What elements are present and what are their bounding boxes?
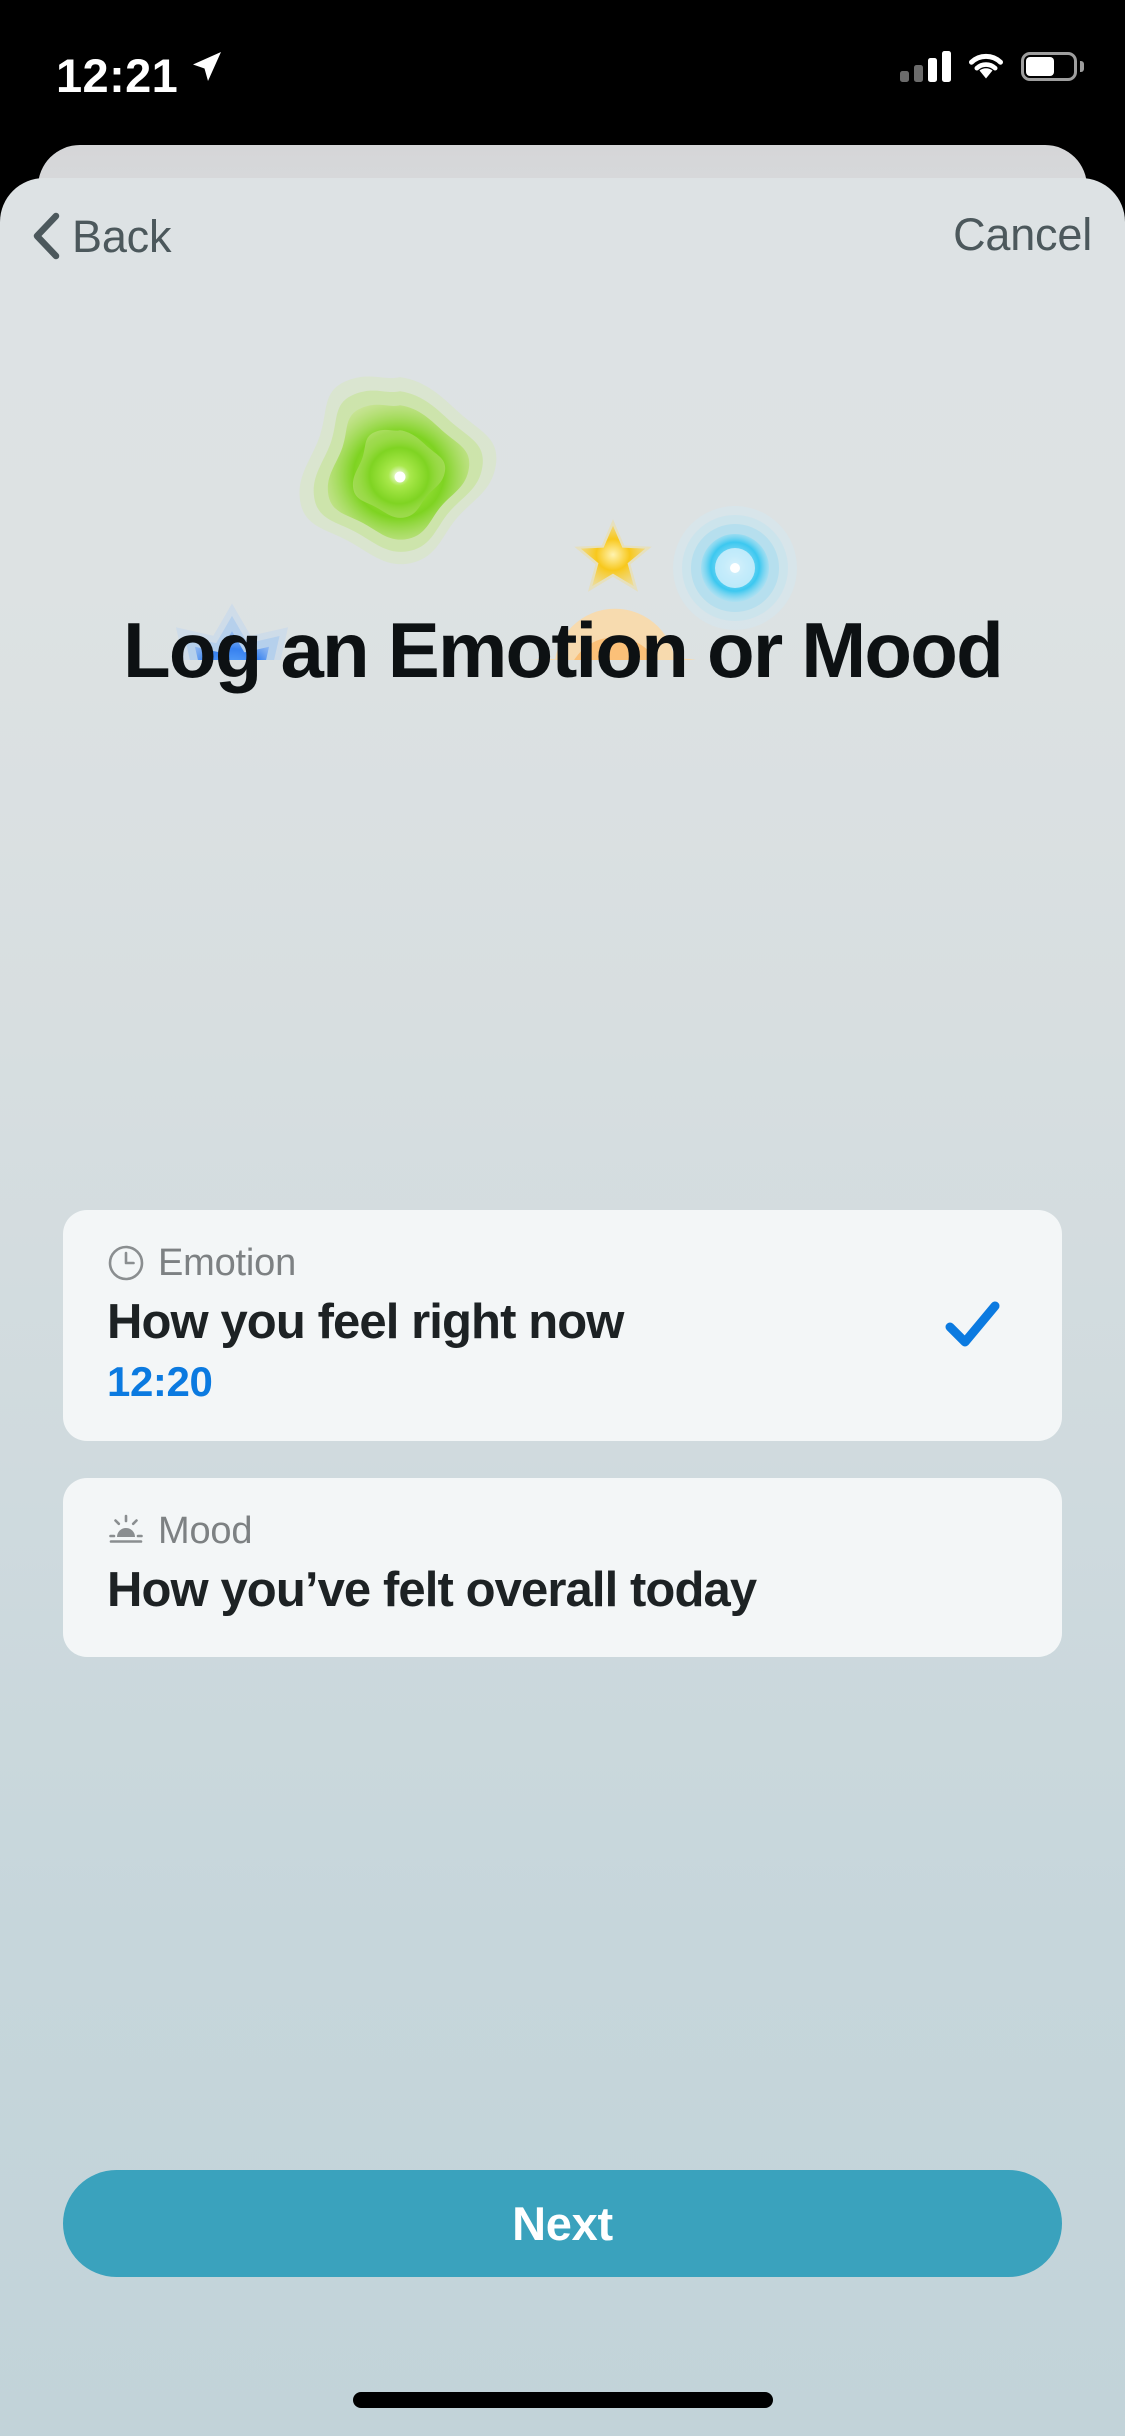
option-list: Emotion How you feel right now 12:20 [63,1210,1062,1694]
back-button-label: Back [72,214,171,259]
back-button[interactable]: Back [30,212,171,260]
page-title: Log an Emotion or Mood [0,610,1125,691]
option-card-mood[interactable]: Mood How you’ve felt overall today [63,1478,1062,1657]
modal-sheet: Back Cancel [0,178,1125,2436]
battery-icon [1021,52,1077,81]
checkmark-icon [940,1293,1004,1357]
emotion-flowers-illustration [0,270,1125,660]
status-bar: 12:21 [0,0,1125,148]
location-arrow-icon [189,49,223,83]
option-time: 12:20 [107,1361,1018,1403]
wifi-icon [967,51,1005,81]
next-button[interactable]: Next [63,2170,1062,2277]
home-indicator[interactable] [353,2392,773,2408]
option-meta-mood: Mood [107,1512,1018,1550]
option-meta-emotion: Emotion [107,1244,1018,1282]
phone-screen: 12:21 Back Cancel [0,0,1125,2436]
next-button-label: Next [512,2196,613,2251]
status-bar-time: 12:21 [56,52,178,99]
status-bar-indicators [900,50,1077,82]
option-title: How you’ve felt overall today [107,1562,807,1619]
option-card-emotion[interactable]: Emotion How you feel right now 12:20 [63,1210,1062,1441]
option-meta-label: Mood [158,1512,252,1550]
cancel-button[interactable]: Cancel [953,212,1092,257]
option-title: How you feel right now [107,1294,807,1351]
chevron-left-icon [30,212,62,260]
option-meta-label: Emotion [158,1244,296,1282]
clock-icon [107,1244,145,1282]
sunrise-icon [107,1512,145,1550]
cellular-signal-icon [900,50,951,82]
